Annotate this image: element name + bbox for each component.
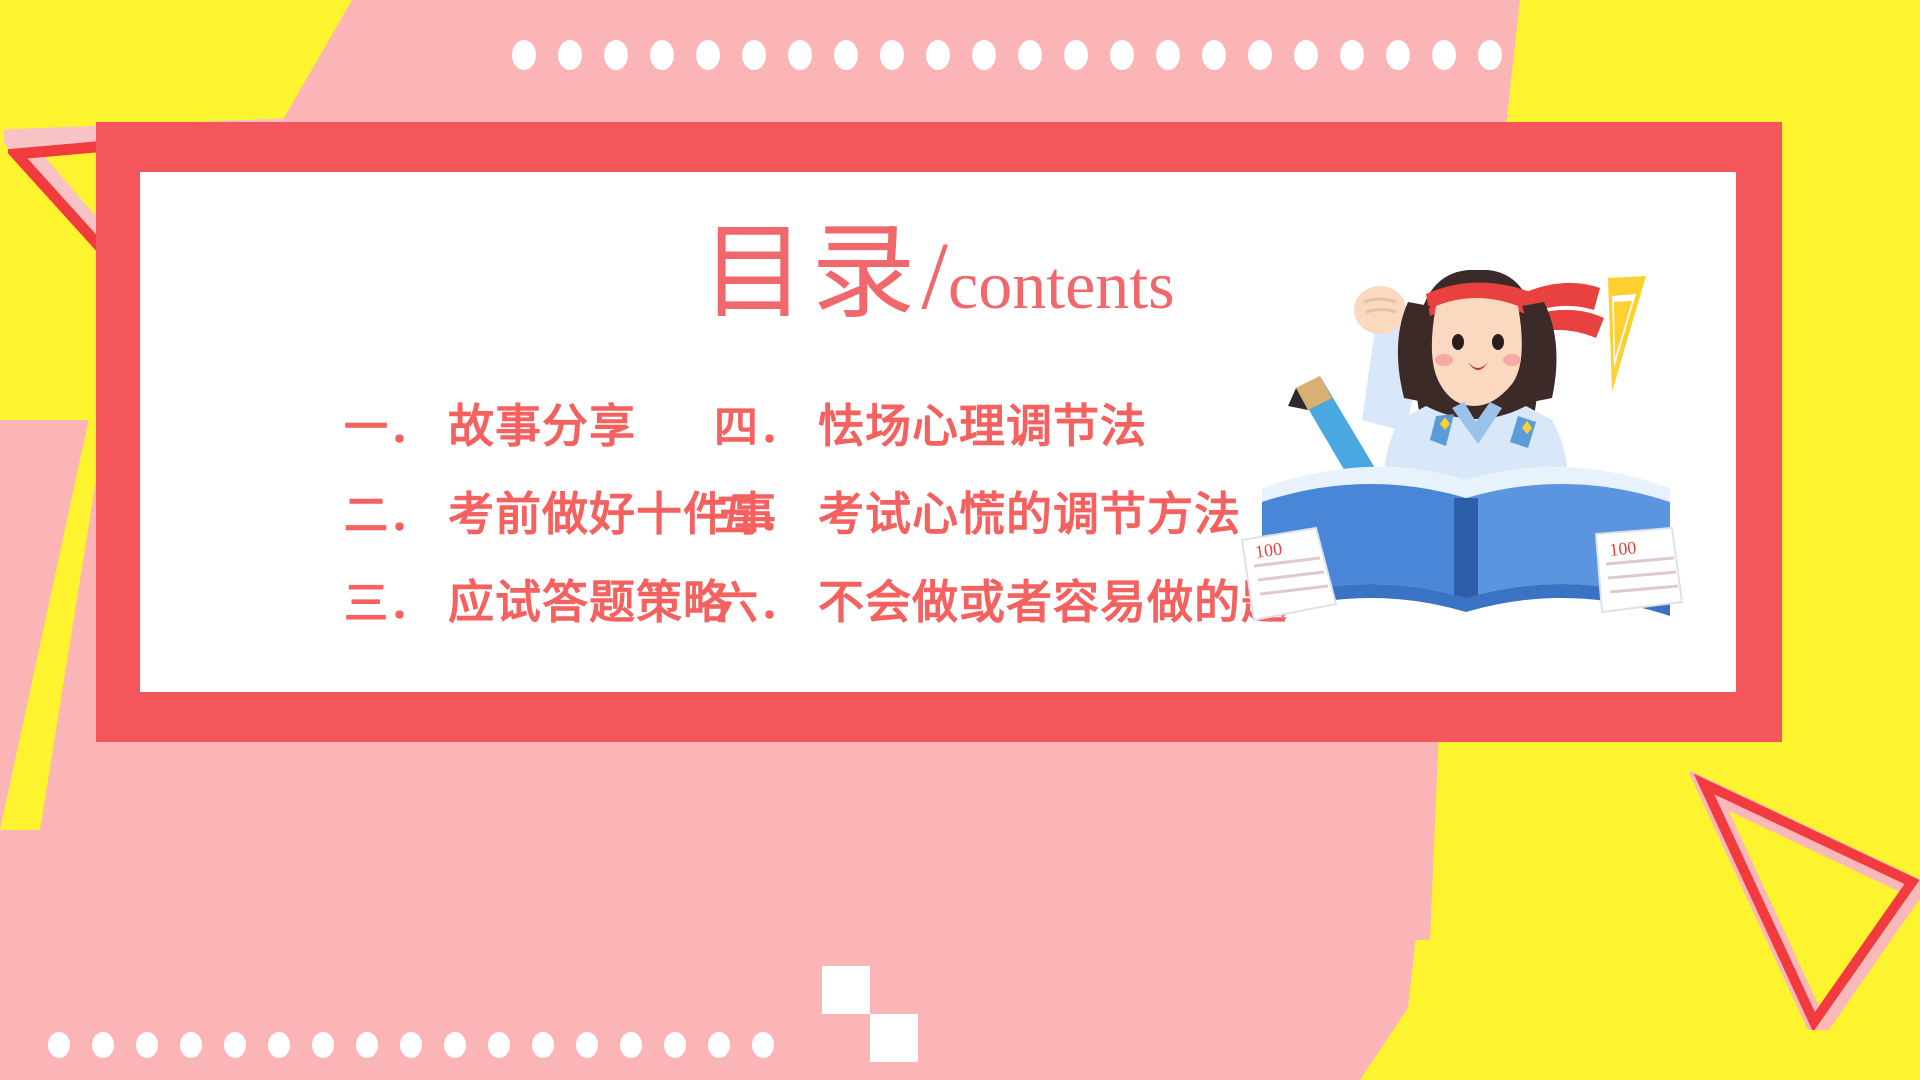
toc-item-3-number: 三． bbox=[344, 567, 434, 631]
decorative-dot bbox=[1064, 40, 1088, 70]
decorative-dot bbox=[834, 40, 858, 70]
toc-item-3[interactable]: 三． 应试答题策略 bbox=[176, 566, 714, 632]
decorative-dot bbox=[926, 40, 950, 70]
toc-item-2[interactable]: 二． 考前做好十件事 bbox=[176, 478, 714, 544]
decorative-dot bbox=[1478, 40, 1502, 70]
decorative-dot bbox=[48, 1032, 70, 1058]
decorative-dot bbox=[1386, 40, 1410, 70]
toc-item-2-number: 二． bbox=[344, 479, 434, 543]
decorative-dot bbox=[180, 1032, 202, 1058]
toc-item-4-label: 怯场心理调节法 bbox=[818, 390, 1147, 456]
contents-list: 一． 故事分享 四． 怯场心理调节法 二． 考前做好十件事 五． 考试心慌的调节… bbox=[176, 390, 1396, 654]
decorative-square-1 bbox=[822, 966, 870, 1014]
decorative-dot bbox=[356, 1032, 378, 1058]
decorative-dot bbox=[312, 1032, 334, 1058]
title-separator: / bbox=[921, 222, 948, 329]
decorative-dot bbox=[742, 40, 766, 70]
title-chinese: 目录 bbox=[701, 216, 921, 331]
decorative-dot bbox=[1202, 40, 1226, 70]
decorative-dot bbox=[708, 1032, 730, 1058]
decorative-dot bbox=[1156, 40, 1180, 70]
decorative-dot bbox=[1248, 40, 1272, 70]
svg-text:100: 100 bbox=[1254, 538, 1284, 562]
decorative-dot bbox=[136, 1032, 158, 1058]
contents-row: 三． 应试答题策略 六． 不会做或者容易做的题 bbox=[176, 566, 1396, 654]
decorative-dot bbox=[1110, 40, 1134, 70]
decorative-dot bbox=[972, 40, 996, 70]
toc-item-1-label: 故事分享 bbox=[448, 390, 636, 456]
toc-item-1-number: 一． bbox=[344, 391, 434, 455]
decorative-dot bbox=[650, 40, 674, 70]
toc-item-1[interactable]: 一． 故事分享 bbox=[176, 390, 714, 456]
toc-item-6-label: 不会做或者容易做的题 bbox=[818, 566, 1288, 632]
contents-row: 一． 故事分享 四． 怯场心理调节法 bbox=[176, 390, 1396, 478]
ruler-icon bbox=[1608, 276, 1646, 392]
toc-item-6-number: 六． bbox=[714, 567, 804, 631]
decorative-dot bbox=[512, 40, 536, 70]
decorative-dot bbox=[880, 40, 904, 70]
paper-score-right: 100 bbox=[1596, 528, 1682, 612]
decorative-dot bbox=[1432, 40, 1456, 70]
contents-row: 二． 考前做好十件事 五． 考试心慌的调节方法 bbox=[176, 478, 1396, 566]
decorative-square-2 bbox=[870, 1014, 918, 1062]
decorative-dot bbox=[752, 1032, 774, 1058]
decorative-dot bbox=[620, 1032, 642, 1058]
triangle-bottom-right-outline-icon bbox=[1690, 770, 1920, 1030]
decorative-dot bbox=[788, 40, 812, 70]
decorative-dot bbox=[268, 1032, 290, 1058]
dot-row-bottom bbox=[48, 1032, 774, 1058]
svg-text:100: 100 bbox=[1608, 537, 1637, 560]
decorative-dot bbox=[1340, 40, 1364, 70]
slide-root: 目录/contents 一． 故事分享 四． 怯场心理调节法 二． 考前做好十件… bbox=[0, 0, 1920, 1080]
title-english: contents bbox=[948, 247, 1175, 323]
decorative-dot bbox=[444, 1032, 466, 1058]
toc-item-5-number: 五． bbox=[714, 479, 804, 543]
toc-item-3-label: 应试答题策略 bbox=[448, 566, 730, 632]
decorative-dot bbox=[558, 40, 582, 70]
decorative-dot bbox=[696, 40, 720, 70]
dot-row-top bbox=[512, 40, 1502, 70]
toc-item-5-label: 考试心慌的调节方法 bbox=[818, 478, 1241, 544]
student-with-book-illustration: 100 100 bbox=[1240, 210, 1700, 640]
decorative-dot bbox=[604, 40, 628, 70]
toc-item-4-number: 四． bbox=[714, 391, 804, 455]
decorative-dot bbox=[1018, 40, 1042, 70]
decorative-dot bbox=[224, 1032, 246, 1058]
decorative-dot bbox=[532, 1032, 554, 1058]
decorative-dot bbox=[576, 1032, 598, 1058]
decorative-dot bbox=[488, 1032, 510, 1058]
decorative-dot bbox=[664, 1032, 686, 1058]
decorative-dot bbox=[400, 1032, 422, 1058]
decorative-dot bbox=[1294, 40, 1318, 70]
decorative-dot bbox=[92, 1032, 114, 1058]
